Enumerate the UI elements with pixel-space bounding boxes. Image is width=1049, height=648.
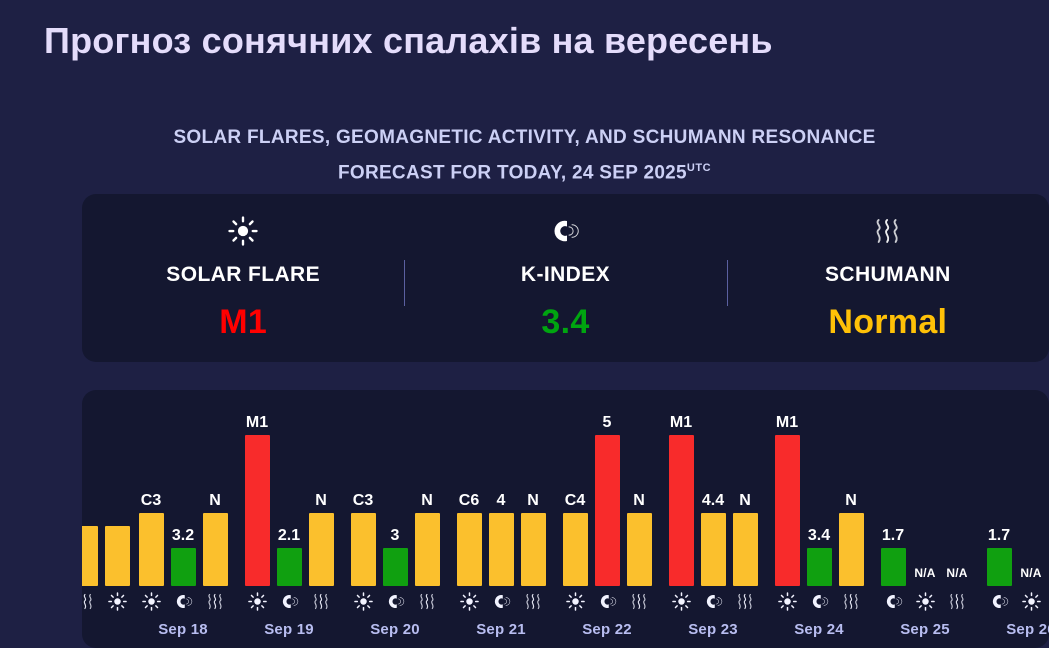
bar-rect[interactable]: [775, 435, 800, 586]
bar-rect[interactable]: [701, 513, 726, 586]
bar-slot[interactable]: 3.4: [807, 527, 832, 586]
bar-value-label: 4.4: [702, 492, 724, 509]
day-metric-icons: [554, 590, 660, 612]
subtitle-line-2: FORECAST FOR TODAY, 24 SEP 2025: [338, 162, 687, 183]
sun-icon: [913, 592, 938, 611]
schumann-waves-icon: [627, 592, 652, 611]
day-metric-icons: [82, 590, 130, 612]
bar-slot[interactable]: 3.2: [171, 527, 196, 586]
summary-cell-solar-flare: SOLAR FLAREM1: [82, 194, 404, 362]
schumann-waves-icon: [309, 592, 334, 611]
day-bars: C45N: [554, 390, 660, 586]
bar-slot[interactable]: [105, 526, 130, 586]
magnet-waves-icon: [807, 592, 832, 611]
bar-slot[interactable]: 4.4: [701, 492, 726, 586]
day-metric-icons: [236, 590, 342, 612]
day-label: Sep 24: [766, 621, 872, 638]
bar-rect[interactable]: [669, 435, 694, 586]
magnet-waves-icon: [171, 592, 196, 611]
bar-slot[interactable]: C3: [139, 492, 164, 586]
sun-icon: [351, 592, 376, 611]
bar-value-label: 3.4: [808, 527, 830, 544]
summary-cell-schumann: SCHUMANNNormal: [727, 194, 1049, 362]
schumann-waves-icon: [203, 592, 228, 611]
day-label: Sep 23: [660, 621, 766, 638]
day-bars: C33N: [342, 390, 448, 586]
day-group[interactable]: C33NSep 20: [342, 390, 448, 648]
bar-value-label: M1: [246, 414, 268, 431]
bar-rect[interactable]: [563, 513, 588, 586]
bar-slot[interactable]: N: [521, 492, 546, 586]
sun-icon: [139, 592, 164, 611]
bar-rect[interactable]: [881, 548, 906, 586]
magnet-waves-icon: [550, 214, 580, 248]
bar-value-label: M1: [776, 414, 798, 431]
bar-value-label: N/A: [946, 565, 967, 582]
page-subtitle: SOLAR FLARES, GEOMAGNETIC ACTIVITY, AND …: [0, 122, 1049, 188]
bar-slot[interactable]: N: [415, 492, 440, 586]
bar-slot[interactable]: M1: [245, 414, 270, 586]
magnet-waves-icon: [489, 592, 514, 611]
bar-slot[interactable]: M1: [669, 414, 694, 586]
schumann-waves-icon: [82, 592, 98, 611]
bar-value-label: N/A: [1020, 565, 1041, 582]
day-bars: M14.4N: [660, 390, 766, 586]
bar-value-label: 3.2: [172, 527, 194, 544]
bar-value-label: 2.1: [278, 527, 300, 544]
bar-value-label: 1.7: [988, 527, 1010, 544]
day-bars: C33.2N: [130, 390, 236, 586]
sun-icon: [105, 592, 130, 611]
day-group[interactable]: M12.1NSep 19: [236, 390, 342, 648]
day-label: Sep 26: [978, 621, 1049, 638]
day-group[interactable]: C45NSep 22: [554, 390, 660, 648]
day-metric-icons: [872, 590, 978, 612]
bar-value-label: N: [739, 492, 751, 509]
bar-rect[interactable]: [627, 513, 652, 586]
bar-value-label: C3: [353, 492, 373, 509]
magnet-waves-icon: [595, 592, 620, 611]
bar-rect[interactable]: [807, 548, 832, 586]
bar-rect[interactable]: [489, 513, 514, 586]
bar-slot[interactable]: M1: [775, 414, 800, 586]
day-group[interactable]: M14.4NSep 23: [660, 390, 766, 648]
bar-value-label: 4: [497, 492, 506, 509]
day-label: Sep 20: [342, 621, 448, 638]
bar-rect[interactable]: [839, 513, 864, 586]
bar-rect[interactable]: [351, 513, 376, 586]
bar-slot[interactable]: N: [627, 492, 652, 586]
day-bars: M12.1N: [236, 390, 342, 586]
day-metric-icons: [766, 590, 872, 612]
day-metric-icons: [978, 590, 1049, 612]
bar-slot[interactable]: N/A: [913, 565, 938, 586]
sun-icon: [245, 592, 270, 611]
day-group[interactable]: 1.7N/AN/ASep 26: [978, 390, 1049, 648]
bar-slot[interactable]: [82, 526, 98, 586]
day-bars: C64N: [448, 390, 554, 586]
summary-cell-k-index: K-INDEX3.4: [404, 194, 726, 362]
bar-slot[interactable]: 3: [383, 527, 408, 586]
day-bars: 1.7N/AN/A: [978, 390, 1049, 586]
schumann-waves-icon: [415, 592, 440, 611]
sun-icon: [563, 592, 588, 611]
day-metric-icons: [342, 590, 448, 612]
bar-slot[interactable]: N/A: [945, 565, 970, 586]
bar-rect[interactable]: [987, 548, 1012, 586]
bar-value-label: N: [845, 492, 857, 509]
bar-slot[interactable]: 5: [595, 414, 620, 586]
summary-value: M1: [219, 303, 267, 342]
bar-rect[interactable]: [733, 513, 758, 586]
bar-value-label: C3: [141, 492, 161, 509]
day-metric-icons: [660, 590, 766, 612]
magnet-waves-icon: [701, 592, 726, 611]
day-label: Sep 21: [448, 621, 554, 638]
bar-rect[interactable]: [203, 513, 228, 586]
forecast-chart: C33.2NSep 18M12.1NSep 19C33NSep 20C64NSe…: [82, 390, 1049, 648]
subtitle-line-1: SOLAR FLARES, GEOMAGNETIC ACTIVITY, AND …: [173, 127, 875, 148]
summary-value: 3.4: [541, 303, 589, 342]
schumann-waves-icon: [733, 592, 758, 611]
summary-card: SOLAR FLAREM1K-INDEX3.4SCHUMANNNormal: [82, 194, 1049, 362]
day-label: Sep 19: [236, 621, 342, 638]
day-metric-icons: [130, 590, 236, 612]
schumann-waves-icon: [839, 592, 864, 611]
schumann-waves-icon: [521, 592, 546, 611]
day-group[interactable]: C64NSep 21: [448, 390, 554, 648]
magnet-waves-icon: [383, 592, 408, 611]
bar-slot[interactable]: C6: [457, 492, 482, 586]
schumann-waves-icon: [873, 214, 903, 248]
bar-slot[interactable]: 1.7: [987, 527, 1012, 586]
bar-value-label: C6: [459, 492, 479, 509]
day-metric-icons: [448, 590, 554, 612]
summary-value: Normal: [828, 303, 947, 342]
sun-icon: [1019, 592, 1044, 611]
page-title: Прогноз сонячних спалахів на вересень: [44, 20, 773, 62]
day-bars: M13.4N: [766, 390, 872, 586]
summary-label: SCHUMANN: [825, 263, 951, 287]
sun-icon: [669, 592, 694, 611]
day-group[interactable]: [82, 390, 130, 648]
day-label: Sep 18: [130, 621, 236, 638]
bar-value-label: N: [527, 492, 539, 509]
bar-value-label: N: [633, 492, 645, 509]
bar-slot[interactable]: N: [733, 492, 758, 586]
day-label: Sep 22: [554, 621, 660, 638]
bar-rect[interactable]: [309, 513, 334, 586]
day-group[interactable]: C33.2NSep 18: [130, 390, 236, 648]
sun-icon: [775, 592, 800, 611]
bar-slot[interactable]: N: [839, 492, 864, 586]
day-bars: 1.7N/AN/A: [872, 390, 978, 586]
forecast-chart-card: C33.2NSep 18M12.1NSep 19C33NSep 20C64NSe…: [82, 390, 1049, 648]
bar-rect[interactable]: [521, 513, 546, 586]
day-bars: [82, 390, 130, 586]
bar-value-label: 1.7: [882, 527, 904, 544]
bar-rect[interactable]: [105, 526, 130, 586]
bar-rect[interactable]: [595, 435, 620, 586]
subtitle-utc-suffix: UTC: [687, 162, 711, 174]
sun-icon: [228, 214, 258, 248]
bar-value-label: N: [315, 492, 327, 509]
magnet-waves-icon: [277, 592, 302, 611]
magnet-waves-icon: [987, 592, 1012, 611]
bar-slot[interactable]: 2.1: [277, 527, 302, 586]
bar-rect[interactable]: [383, 548, 408, 586]
bar-slot[interactable]: 4: [489, 492, 514, 586]
schumann-waves-icon: [945, 592, 970, 611]
bar-slot[interactable]: N/A: [1019, 565, 1044, 586]
bar-value-label: 5: [603, 414, 612, 431]
bar-rect[interactable]: [171, 548, 196, 586]
bar-rect[interactable]: [415, 513, 440, 586]
magnet-waves-icon: [881, 592, 906, 611]
bar-value-label: 3: [391, 527, 400, 544]
bar-slot[interactable]: N: [203, 492, 228, 586]
bar-slot[interactable]: C4: [563, 492, 588, 586]
bar-slot[interactable]: C3: [351, 492, 376, 586]
bar-value-label: C4: [565, 492, 585, 509]
bar-value-label: N: [421, 492, 433, 509]
bar-value-label: M1: [670, 414, 692, 431]
summary-label: K-INDEX: [521, 263, 610, 287]
bar-rect[interactable]: [82, 526, 98, 586]
day-label: Sep 25: [872, 621, 978, 638]
day-group[interactable]: M13.4NSep 24: [766, 390, 872, 648]
bar-slot[interactable]: N: [309, 492, 334, 586]
bar-rect[interactable]: [139, 513, 164, 586]
summary-label: SOLAR FLARE: [166, 263, 320, 287]
day-group[interactable]: 1.7N/AN/ASep 25: [872, 390, 978, 648]
bar-rect[interactable]: [245, 435, 270, 586]
bar-rect[interactable]: [277, 548, 302, 586]
bar-slot[interactable]: 1.7: [881, 527, 906, 586]
sun-icon: [457, 592, 482, 611]
bar-value-label: N/A: [914, 565, 935, 582]
bar-rect[interactable]: [457, 513, 482, 586]
bar-value-label: N: [209, 492, 221, 509]
